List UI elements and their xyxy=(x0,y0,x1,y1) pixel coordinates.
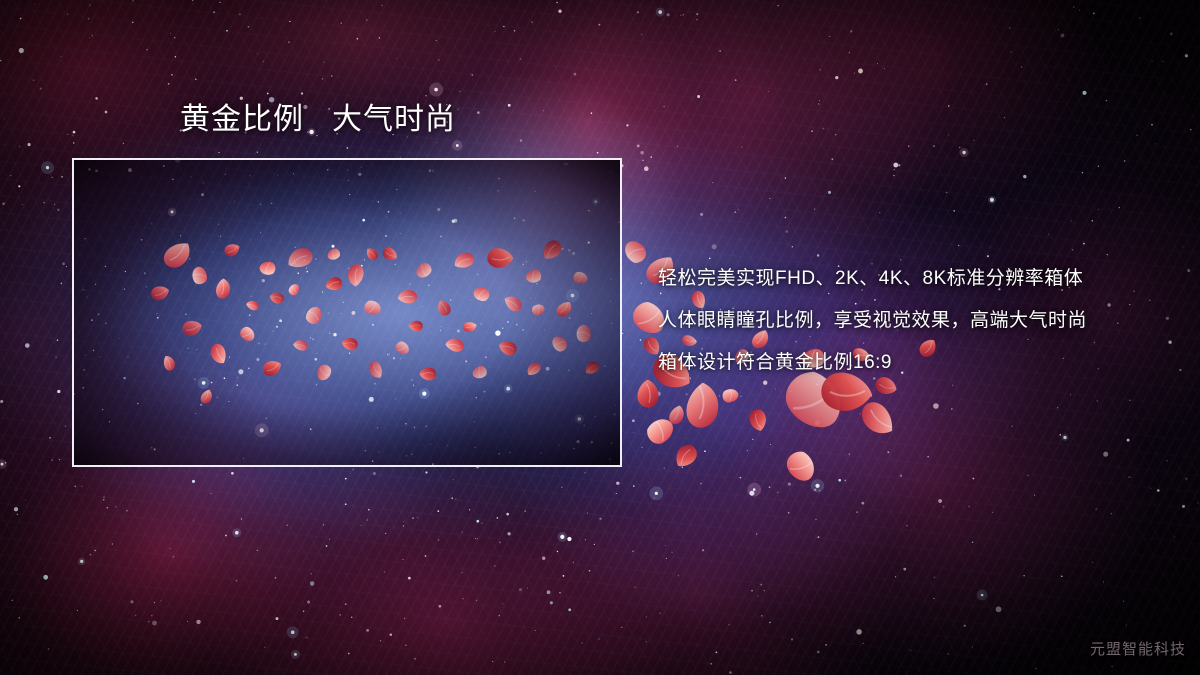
page-title: 黄金比例 大气时尚 xyxy=(180,102,456,138)
nebula-photo-inner xyxy=(74,160,620,465)
body-line-1: 轻松完美实现FHD、2K、4K、8K标准分辨率箱体 xyxy=(658,258,1178,300)
rose-petals-in-frame xyxy=(74,160,620,465)
watermark-text: 元盟智能科技 xyxy=(1090,638,1186,659)
body-line-2: 人体眼睛瞳孔比例，享受视觉效果，高端大气时尚 xyxy=(658,300,1178,342)
body-line-3: 箱体设计符合黄金比例16:9 xyxy=(658,342,1178,384)
nebula-photo-frame xyxy=(72,158,622,467)
body-copy-block: 轻松完美实现FHD、2K、4K、8K标准分辨率箱体 人体眼睛瞳孔比例，享受视觉效… xyxy=(658,258,1178,384)
presentation-slide: 黄金比例 大气时尚 轻松完美实现FHD、2K、4K、8K标准分辨率箱体 人体眼睛… xyxy=(0,0,1200,675)
